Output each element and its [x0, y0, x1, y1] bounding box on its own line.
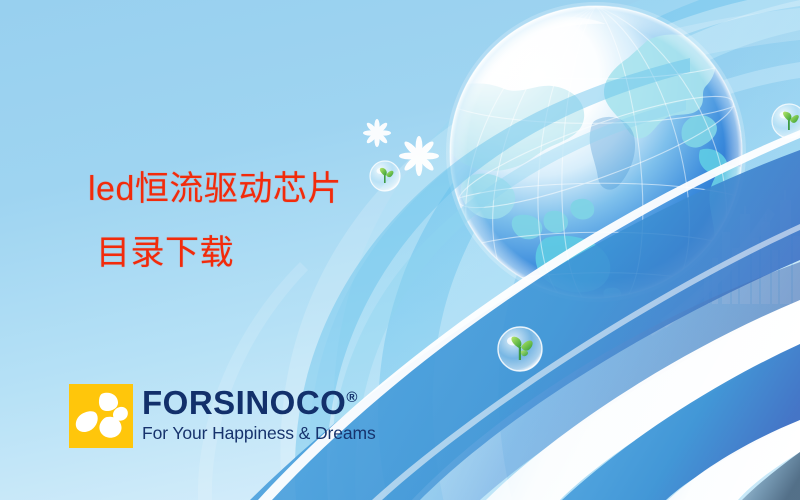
registered-trademark-icon: ® — [346, 389, 358, 406]
headline-line-2: 目录下载 — [96, 236, 234, 272]
brand-wordmark: FORSINOCO® For Your Happiness & Dreams — [142, 384, 376, 443]
forsinoco-pinwheel-mark — [69, 384, 133, 448]
brand-logo: FORSINOCO® For Your Happiness & Dreams — [69, 384, 376, 448]
flower-burst-small — [363, 119, 391, 147]
banner-root: led恒流驱动芯片 目录下载 FORSINOCO® For Your Happi… — [0, 0, 800, 500]
brand-name: FORSINOCO® — [142, 386, 376, 419]
sprout-bubble-left — [370, 161, 400, 191]
flower-burst-large — [399, 136, 439, 176]
headline-line-1: led恒流驱动芯片 — [88, 172, 342, 208]
sprout-bubble-right — [772, 104, 800, 138]
brand-name-text: FORSINOCO — [142, 384, 346, 421]
sprout-bubble-center — [498, 327, 542, 371]
pinwheel-icon — [69, 384, 133, 448]
brand-tagline: For Your Happiness & Dreams — [142, 425, 376, 443]
